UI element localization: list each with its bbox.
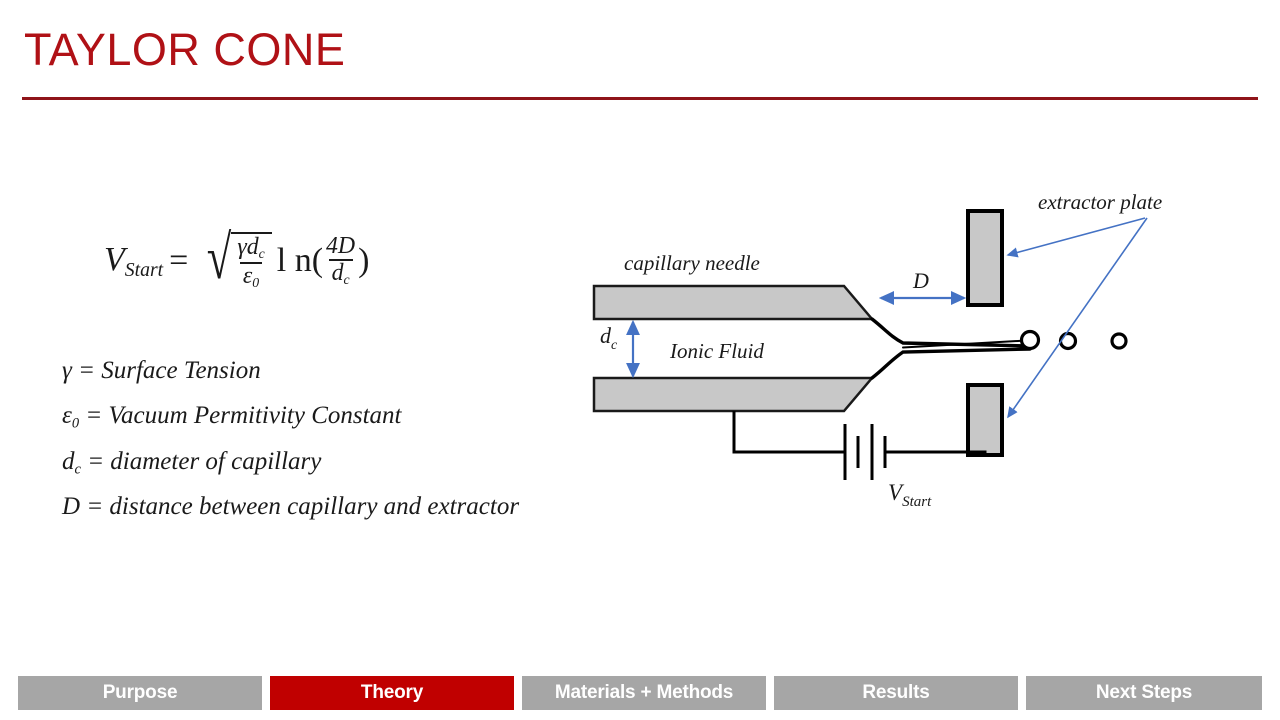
nav-item-theory[interactable]: Theory <box>270 676 514 710</box>
extractor-plate-upper <box>968 211 1002 305</box>
nav-item-label: Results <box>862 682 929 704</box>
label-capillary-needle: capillary needle <box>624 251 760 275</box>
fraction-gamma-dc-over-eps0: γdc ε0 <box>234 235 267 291</box>
definition-row: ε0 = Vacuum Permitivity Constant <box>62 397 519 442</box>
section-navbar: Purpose Theory Materials + Methods Resul… <box>0 676 1280 710</box>
leader-line-extractor-lower <box>1008 218 1147 417</box>
label-ionic-fluid: Ionic Fluid <box>669 339 764 363</box>
droplet <box>1022 332 1039 349</box>
fraction-numerator: γdc <box>234 235 267 262</box>
nav-item-label: Theory <box>361 682 423 704</box>
fraction-numerator: 4D <box>323 234 358 259</box>
square-root-group: √ γdc ε0 <box>202 232 271 291</box>
equation-lhs: VStart <box>104 241 163 282</box>
equals-sign: = <box>169 242 188 280</box>
circuit-wire <box>734 411 845 452</box>
label-diameter-dc: dc <box>600 323 618 353</box>
page-title: TAYLOR CONE <box>24 24 345 76</box>
nav-item-results[interactable]: Results <box>774 676 1018 710</box>
taylor-cone-lower-contour <box>872 349 1030 378</box>
label-distance-D: D <box>912 268 929 293</box>
nav-item-next-steps[interactable]: Next Steps <box>1026 676 1262 710</box>
close-paren: ) <box>358 242 369 280</box>
slide-canvas: TAYLOR CONE VStart = √ γdc ε0 l n( 4D dc… <box>0 0 1280 720</box>
capillary-upper-wall <box>594 286 872 319</box>
fraction-4D-over-dc: 4D dc <box>323 234 358 288</box>
radical-glyph: √ <box>207 234 232 293</box>
extractor-plate-lower <box>968 385 1002 455</box>
nav-item-label: Next Steps <box>1096 682 1192 704</box>
nav-item-label: Materials + Methods <box>555 682 733 704</box>
title-divider <box>22 97 1258 100</box>
radicand: γdc ε0 <box>231 232 271 291</box>
fraction-denominator: ε0 <box>240 262 262 291</box>
definition-row: D = distance between capillary and extra… <box>62 488 519 533</box>
fraction-denominator: dc <box>329 259 353 288</box>
label-voltage-vstart: VStart <box>888 480 932 510</box>
droplet <box>1061 334 1076 349</box>
nav-item-label: Purpose <box>103 682 178 704</box>
taylor-cone-equation: VStart = √ γdc ε0 l n( 4D dc ) <box>104 232 369 291</box>
nav-item-purpose[interactable]: Purpose <box>18 676 262 710</box>
electrospray-diagram: capillary needle Ionic Fluid extractor p… <box>560 180 1280 530</box>
droplet <box>1112 334 1126 348</box>
natural-log-label: l n( <box>277 242 323 280</box>
nav-item-materials-methods[interactable]: Materials + Methods <box>522 676 766 710</box>
capillary-lower-wall <box>594 378 872 411</box>
definition-row: γ = Surface Tension <box>62 352 519 397</box>
variable-definitions: γ = Surface Tension ε0 = Vacuum Permitiv… <box>62 352 519 533</box>
label-extractor-plate: extractor plate <box>1038 190 1162 214</box>
definition-row: dc = diameter of capillary <box>62 443 519 488</box>
